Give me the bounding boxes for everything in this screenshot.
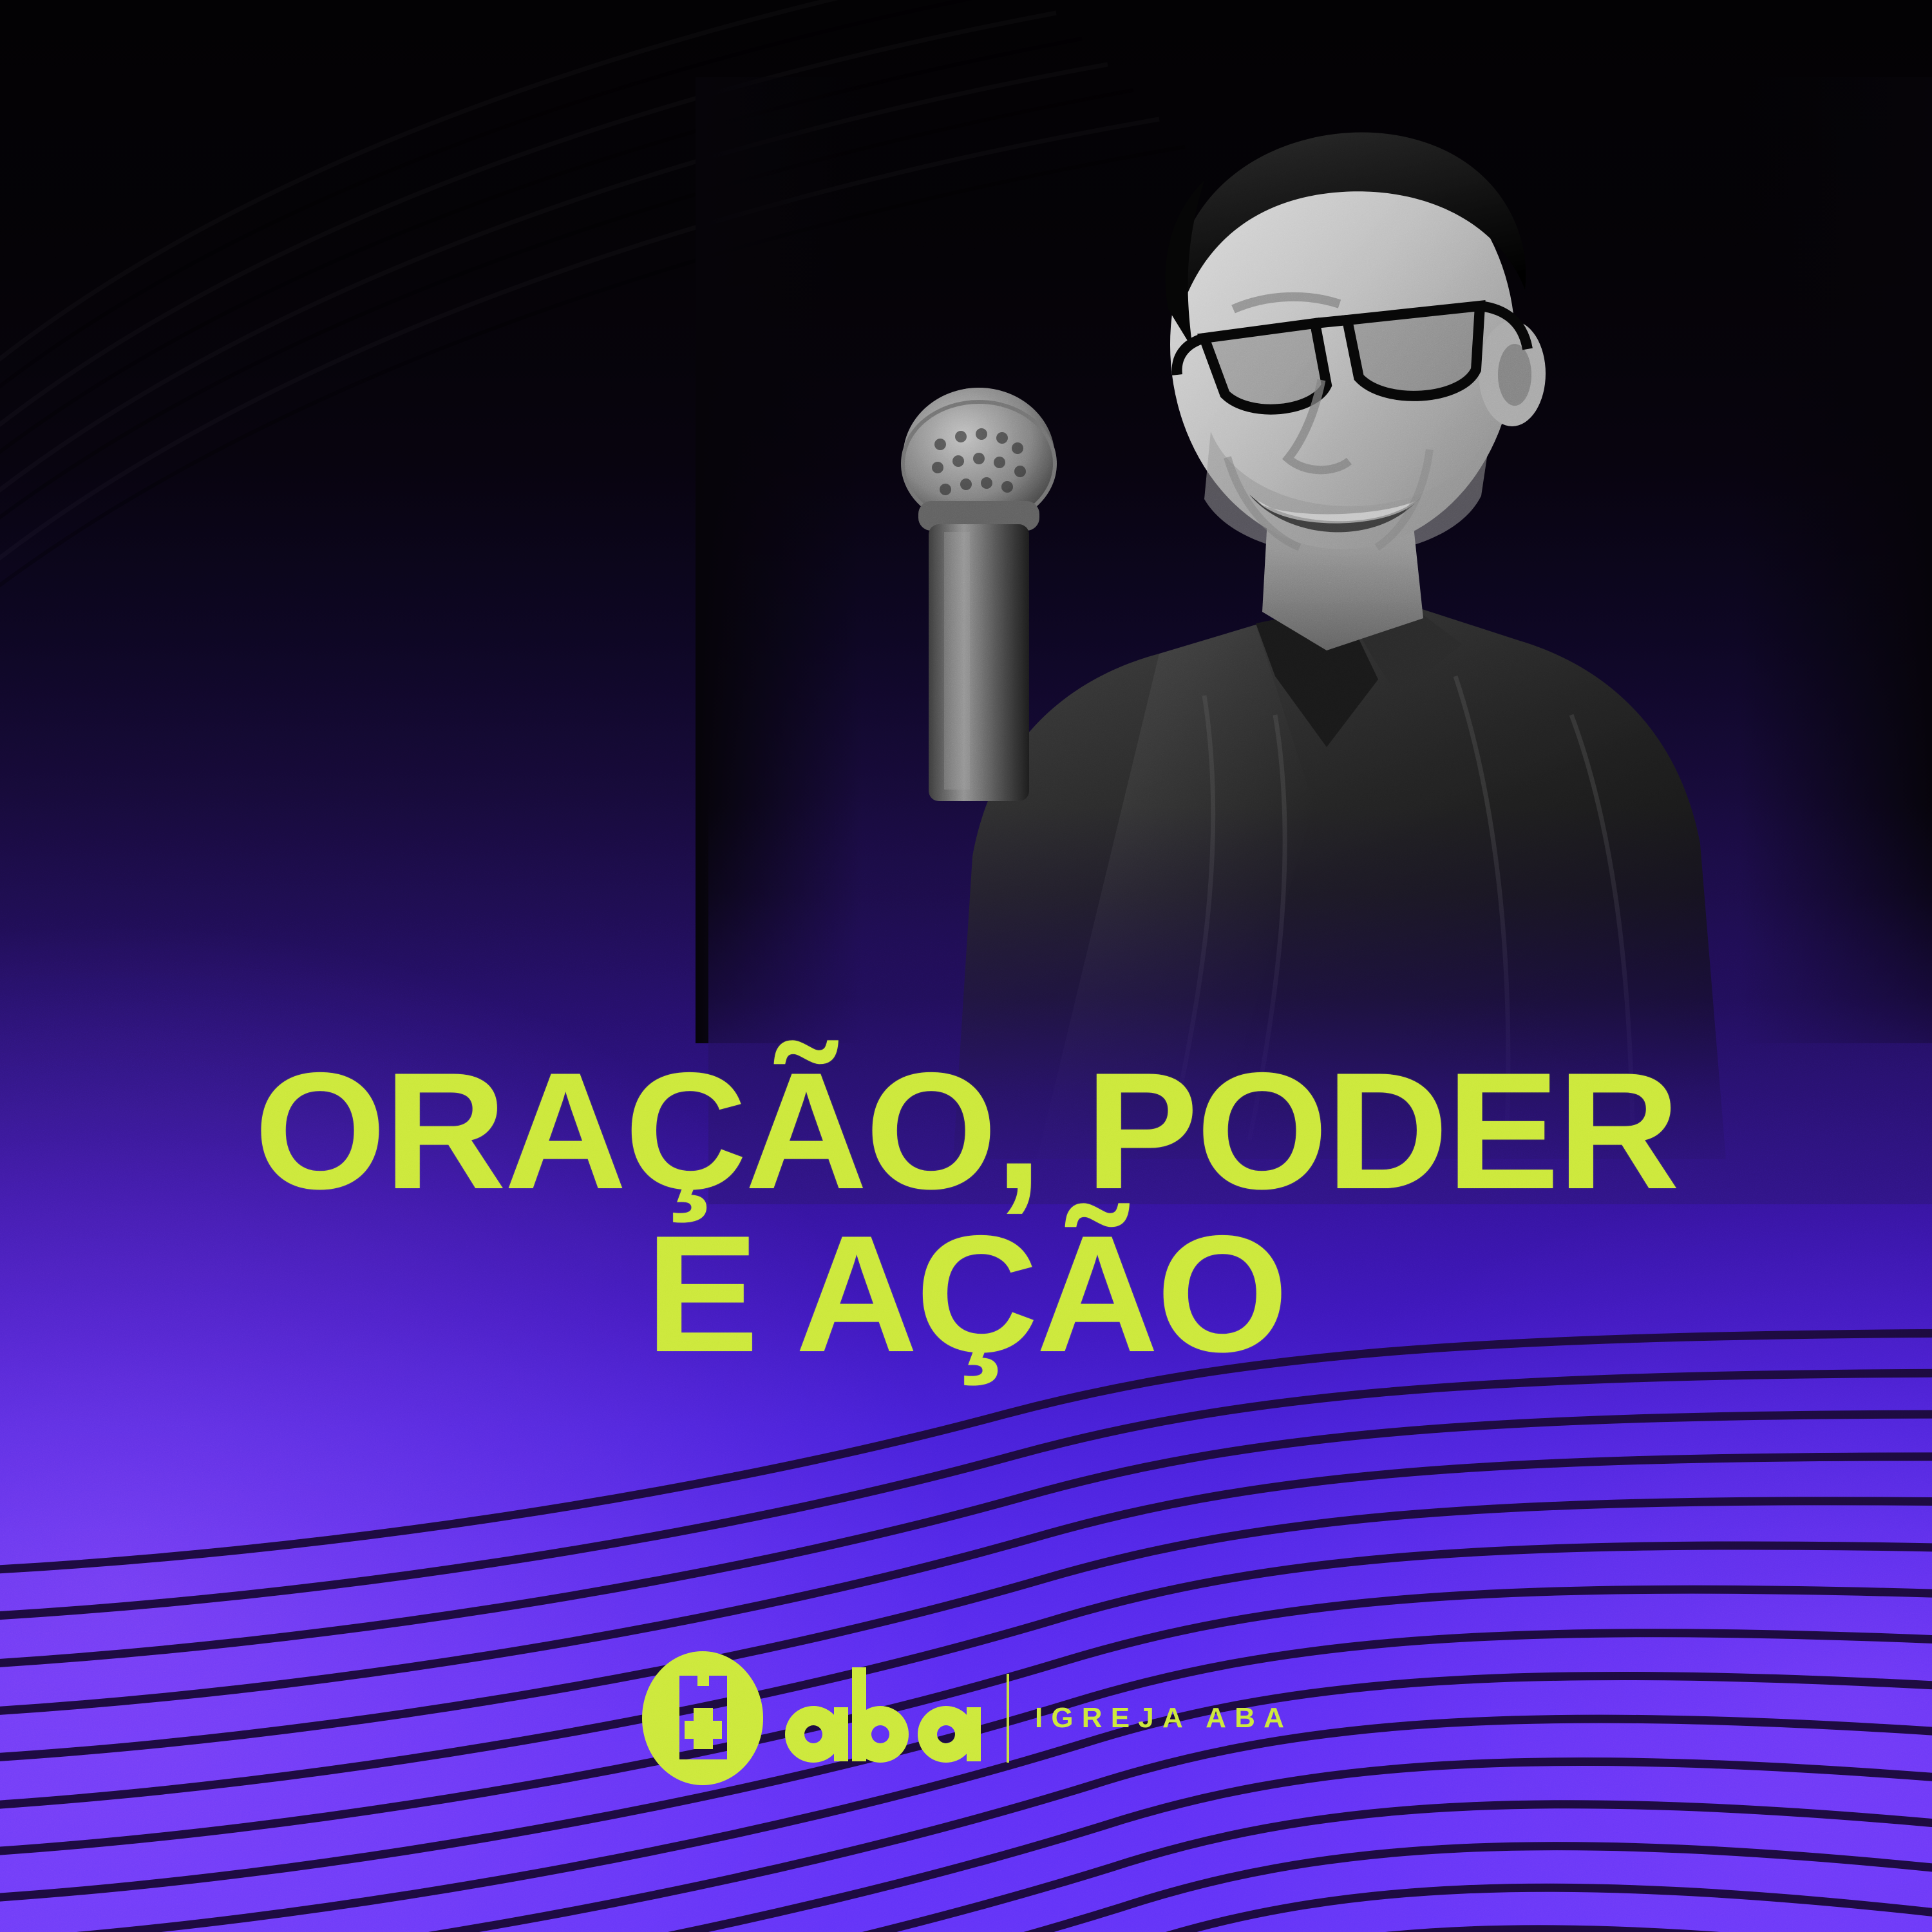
aba-wordmark (777, 1657, 990, 1779)
logo-divider (1007, 1674, 1009, 1763)
aba-circle-cross-icon (639, 1649, 766, 1788)
poster-canvas: ORAÇÃO, PODER E AÇÃO (0, 0, 1932, 1932)
logo-subtitle: IGREJA ABA (1035, 1702, 1293, 1734)
portrait-photo-layer (0, 0, 1932, 1932)
page-title: ORAÇÃO, PODER E AÇÃO (0, 1050, 1932, 1376)
brand-lockup: IGREJA ABA (0, 1649, 1932, 1788)
